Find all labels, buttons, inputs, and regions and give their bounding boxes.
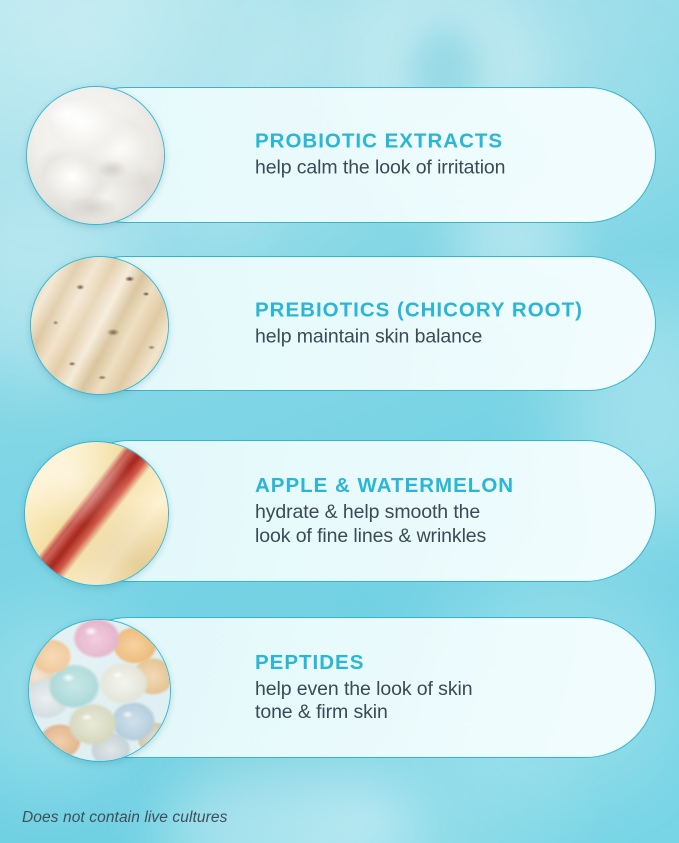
- benefit-title: APPLE & WATERMELON: [255, 474, 679, 498]
- chicory-root-thumbnail: [30, 256, 169, 395]
- apple-watermelon-thumbnail: [24, 441, 169, 586]
- benefit-card-text: APPLE & WATERMELON hydrate & help smooth…: [255, 474, 679, 548]
- benefit-title: PROBIOTIC EXTRACTS: [255, 130, 679, 154]
- apple-slice-texture-icon: [25, 442, 168, 585]
- benefit-card-text: PREBIOTICS (CHICORY ROOT) help maintain …: [255, 298, 679, 349]
- benefit-title: PREBIOTICS (CHICORY ROOT): [255, 298, 679, 322]
- benefit-description: help calm the look of irritation: [255, 157, 679, 181]
- ingredient-benefits-infographic: PROBIOTIC EXTRACTS help calm the look of…: [0, 0, 679, 843]
- benefit-card-text: PEPTIDES help even the look of skin tone…: [255, 650, 679, 724]
- cream-texture-icon: [27, 87, 164, 224]
- peptide-beads-texture-icon: [29, 620, 170, 761]
- chicory-root-texture-icon: [31, 257, 168, 394]
- benefit-description: help maintain skin balance: [255, 325, 679, 349]
- peptides-beads-thumbnail: [28, 619, 171, 762]
- benefit-description: hydrate & help smooth the look of fine l…: [255, 501, 679, 548]
- probiotic-cream-thumbnail: [26, 86, 165, 225]
- benefit-description: help even the look of skin tone & firm s…: [255, 678, 679, 725]
- benefit-title: PEPTIDES: [255, 650, 679, 674]
- background-highlight-blob: [150, 770, 410, 843]
- disclaimer-footnote: Does not contain live cultures: [22, 809, 227, 827]
- benefit-card-text: PROBIOTIC EXTRACTS help calm the look of…: [255, 130, 679, 181]
